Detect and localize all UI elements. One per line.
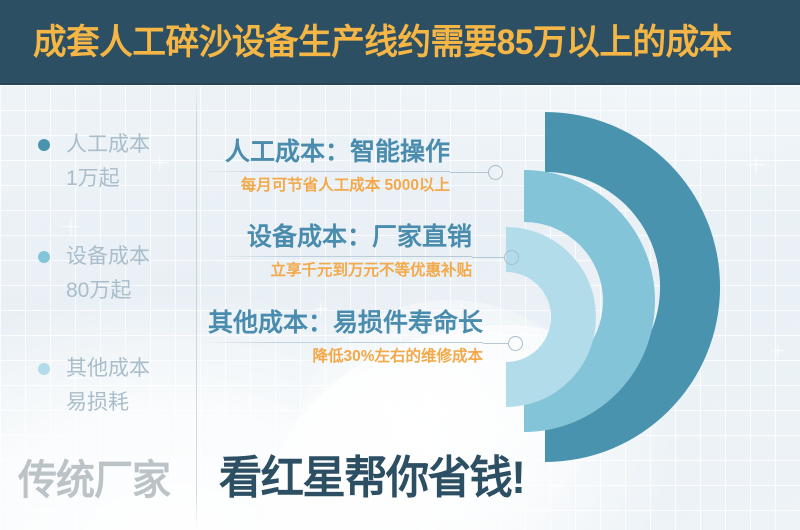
cost-row-connector — [450, 164, 503, 180]
cost-row-connector — [472, 249, 519, 265]
cost-row-title: 设备成本：厂家直销 — [215, 221, 472, 253]
infographic-canvas: 成套人工碎沙设备生产线约需要85万以上的成本 人工成本 1万起 设备成本 80万… — [0, 0, 800, 530]
connector-knob-icon — [488, 165, 503, 180]
cost-row-subtitle: 立享千元到万元不等优惠补贴 — [215, 259, 472, 283]
cost-row-subtitle: 降低30%左右的维修成本 — [200, 345, 483, 369]
footer-cta-label: 看红星帮你省钱! — [219, 448, 524, 508]
connector-line — [483, 343, 508, 344]
cost-row-connector — [483, 335, 523, 351]
connector-line — [450, 172, 488, 173]
cost-row-subtitle: 每月可节省人工成本 5000以上 — [200, 174, 450, 198]
cost-row-labor: 人工成本：智能操作 每月可节省人工成本 5000以上 — [200, 136, 450, 198]
cost-row-equipment: 设备成本：厂家直销 立享千元到万元不等优惠补贴 — [215, 221, 472, 283]
cost-row-rule — [200, 342, 483, 343]
cost-row-title: 人工成本：智能操作 — [200, 136, 450, 168]
connector-knob-icon — [504, 250, 519, 265]
cost-row-rule — [200, 171, 450, 172]
cost-row-other: 其他成本：易损件寿命长 降低30%左右的维修成本 — [200, 307, 483, 369]
connector-line — [472, 257, 504, 258]
connector-knob-icon — [508, 336, 523, 351]
cost-row-rule — [215, 256, 472, 257]
cost-row-title: 其他成本：易损件寿命长 — [200, 307, 483, 339]
footer-traditional-label: 传统厂家 — [18, 452, 170, 508]
